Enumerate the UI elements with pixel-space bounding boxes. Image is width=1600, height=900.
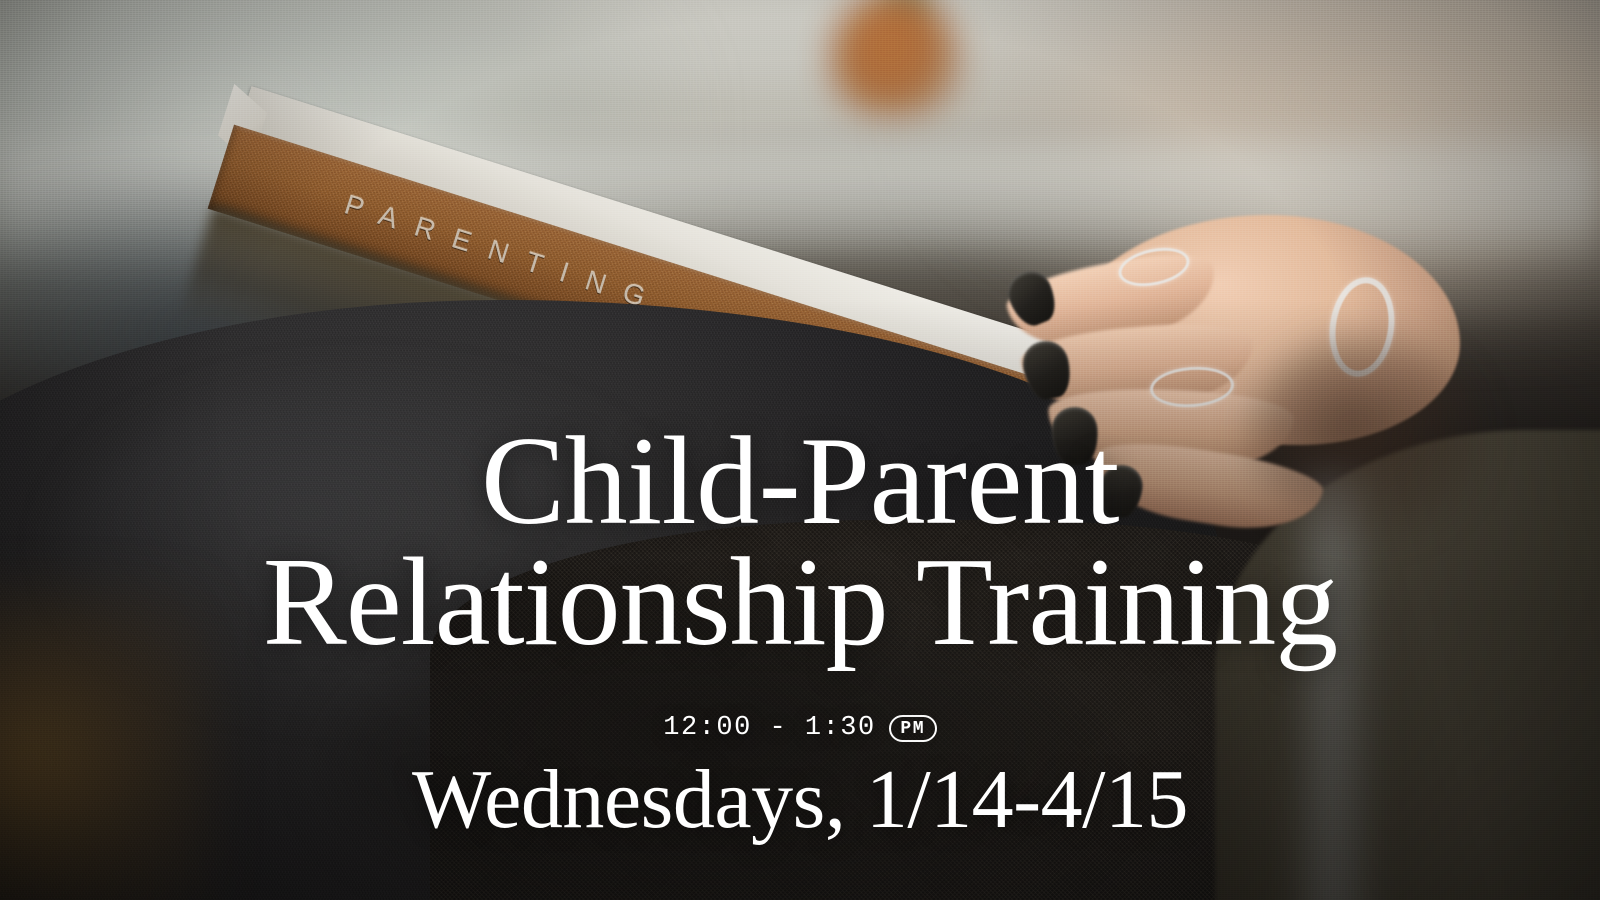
event-time-row: 12:00 - 1:30 PM: [0, 715, 1600, 742]
meridiem-badge: PM: [889, 715, 937, 742]
event-title-line-2: Relationship Training: [0, 543, 1600, 664]
text-overlay: Child-Parent Relationship Training 12:00…: [0, 0, 1600, 900]
event-title: Child-Parent Relationship Training: [0, 422, 1600, 664]
event-poster: PARENTING: [0, 0, 1600, 900]
event-dates: Wednesdays, 1/14-4/15: [0, 756, 1600, 844]
event-time-range: 12:00 - 1:30: [663, 715, 875, 742]
event-title-line-1: Child-Parent: [0, 422, 1600, 543]
